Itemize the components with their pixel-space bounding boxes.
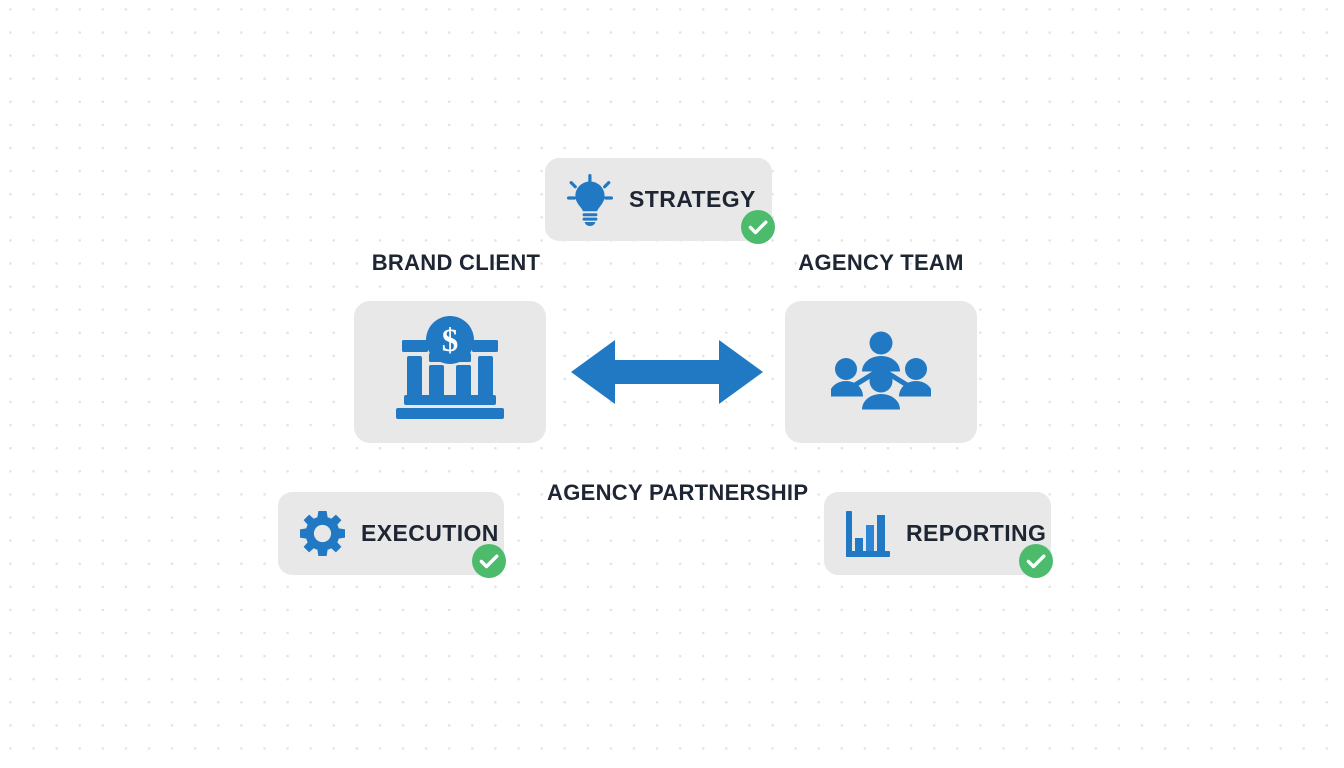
diagram-canvas: STRATEGY BRAND CLIENT [0, 0, 1344, 768]
svg-text:$: $ [442, 323, 459, 359]
execution-status-badge [472, 544, 506, 578]
node-reporting[interactable]: REPORTING [824, 492, 1051, 575]
brand-client-heading: BRAND CLIENT [330, 250, 582, 276]
people-group-icon [831, 331, 931, 415]
node-reporting-label: REPORTING [906, 520, 1046, 547]
node-strategy[interactable]: STRATEGY [545, 158, 772, 241]
bank-dollar-icon: $ [396, 316, 504, 419]
node-strategy-label: STRATEGY [629, 186, 756, 213]
node-execution[interactable]: EXECUTION [278, 492, 504, 575]
lightbulb-icon [567, 174, 613, 226]
node-execution-label: EXECUTION [361, 520, 499, 547]
diagram-center-title: AGENCY PARTNERSHIP [547, 480, 797, 506]
bar-chart-icon [846, 511, 890, 557]
strategy-status-badge [741, 210, 775, 244]
gear-icon [300, 511, 345, 556]
partnership-arrow-icon [571, 338, 763, 406]
agency-team-heading: AGENCY TEAM [755, 250, 1007, 276]
reporting-status-badge [1019, 544, 1053, 578]
